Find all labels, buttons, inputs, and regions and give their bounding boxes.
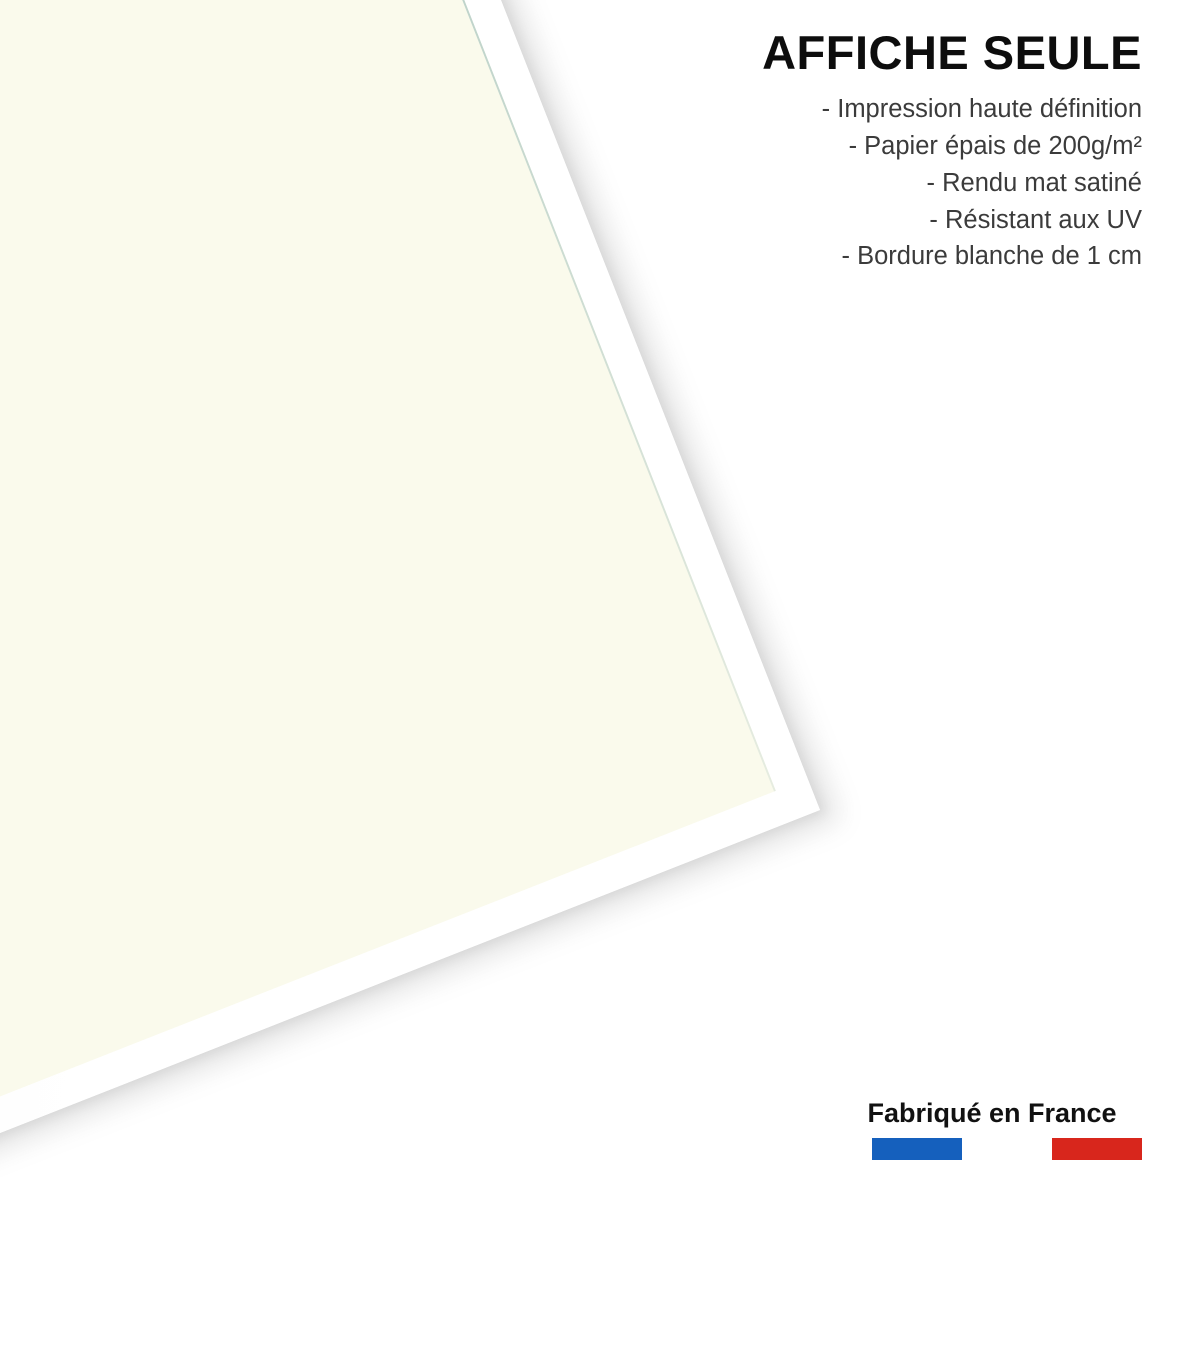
flag-blue-bar	[872, 1138, 962, 1160]
page-title: AFFICHE SEULE	[622, 28, 1142, 77]
made-in-france-label: Fabriqué en France	[842, 1098, 1142, 1129]
front-wheel	[0, 383, 53, 1002]
flag-red-bar	[1052, 1138, 1142, 1160]
made-in-france-badge: Fabriqué en France	[842, 1098, 1142, 1160]
feature-list: - Impression haute définition - Papier é…	[622, 91, 1142, 275]
screenshot-root: AFFICHE SEULE - Impression haute définit…	[0, 0, 1200, 1200]
product-info-block: AFFICHE SEULE - Impression haute définit…	[622, 28, 1142, 275]
feature-item: - Papier épais de 200g/m²	[622, 128, 1142, 165]
french-flag-icon	[872, 1138, 1142, 1160]
feature-item: - Rendu mat satiné	[622, 165, 1142, 202]
feature-item: - Résistant aux UV	[622, 202, 1142, 239]
feature-item: - Bordure blanche de 1 cm	[622, 238, 1142, 275]
flag-white-bar	[962, 1138, 1052, 1160]
front-wheel-segments	[0, 383, 53, 1002]
feature-item: - Impression haute définition	[622, 91, 1142, 128]
